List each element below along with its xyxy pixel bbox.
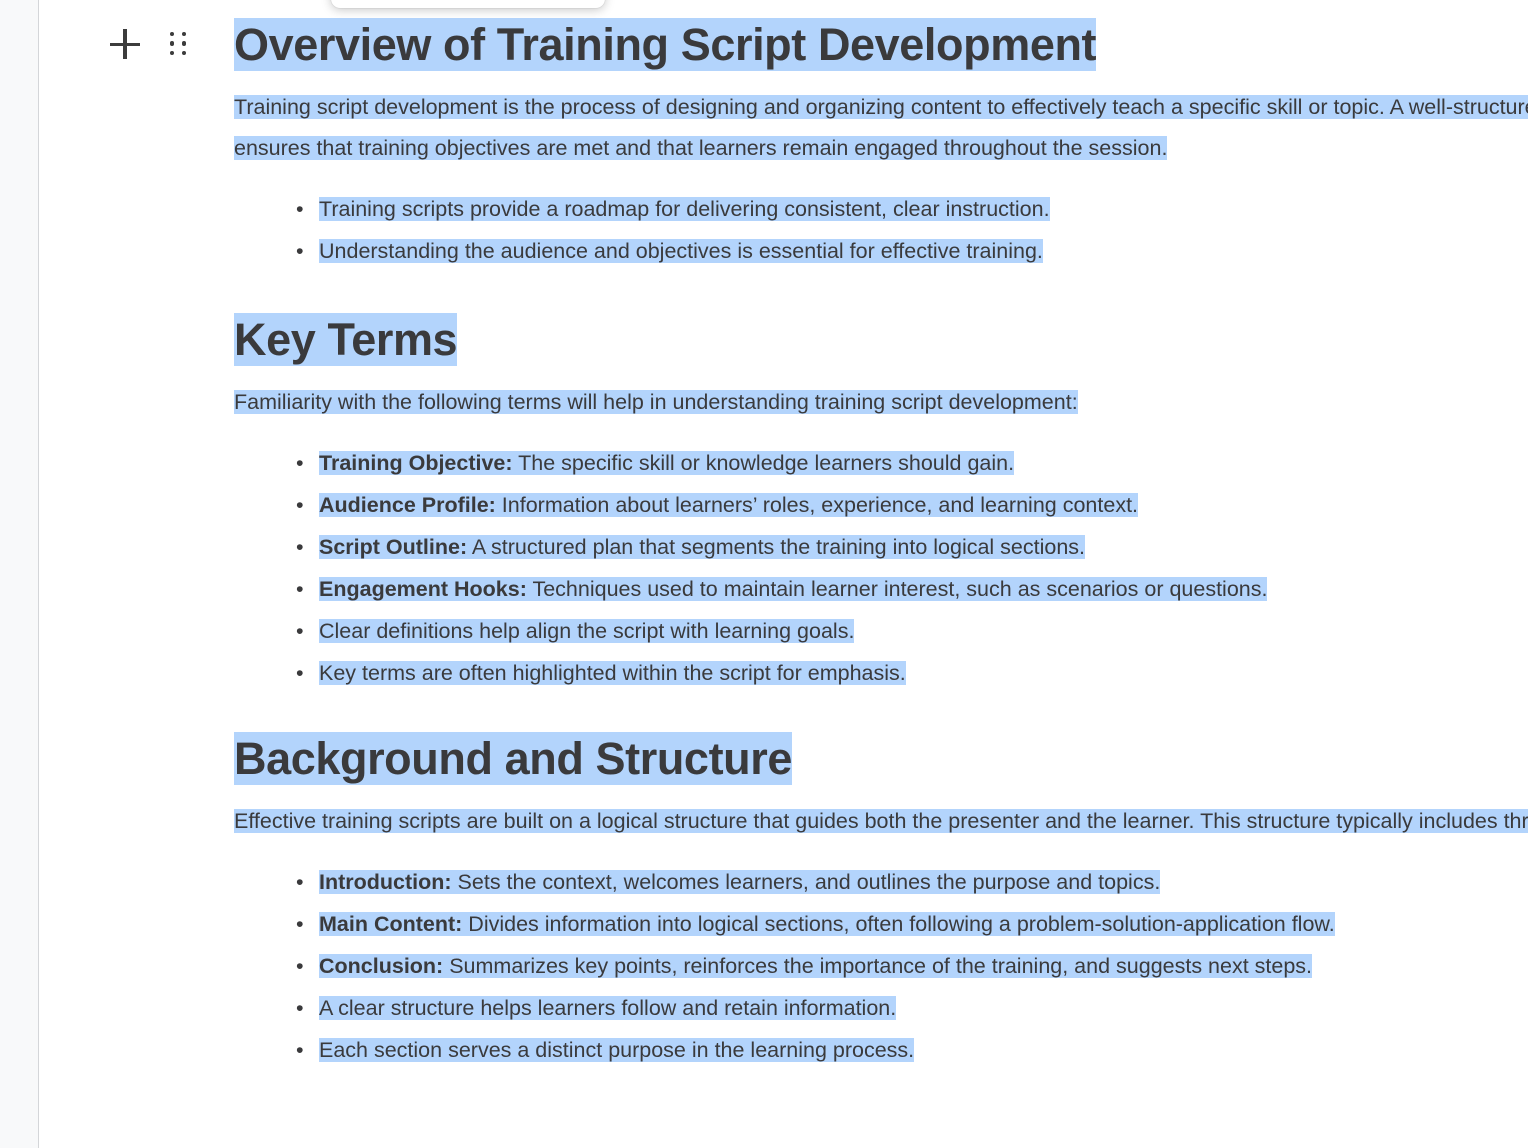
list-item[interactable]: Engagement Hooks: Techniques used to mai… [319, 568, 1528, 610]
list-item[interactable]: Clear definitions help align the script … [319, 610, 1528, 652]
document-body[interactable]: Overview of Training Script Development … [234, 0, 1528, 1071]
list-item-term: Engagement Hooks: [319, 577, 527, 601]
list-item-term: Main Content: [319, 912, 462, 936]
section-heading[interactable]: Background and Structure [234, 728, 1528, 790]
list-item[interactable]: Each section serves a distinct purpose i… [319, 1029, 1528, 1071]
list-item-term: Conclusion: [319, 954, 443, 978]
section-heading-text: Overview of Training Script Development [234, 18, 1096, 71]
list-item-term: Audience Profile: [319, 493, 496, 517]
list-item[interactable]: Key terms are often highlighted within t… [319, 652, 1528, 694]
list-item-text: Summarizes key points, reinforces the im… [449, 954, 1312, 978]
section-heading[interactable]: Key Terms [234, 309, 1528, 371]
list-item[interactable]: Understanding the audience and objective… [319, 230, 1528, 272]
list-item[interactable]: Script Outline: A structured plan that s… [319, 526, 1528, 568]
list-item-text: Key terms are often highlighted within t… [319, 661, 906, 685]
list-item-term: Training Objective: [319, 451, 513, 475]
block-gutter-controls [110, 22, 220, 66]
plus-icon[interactable] [110, 29, 140, 59]
section-bullet-list[interactable]: Introduction: Sets the context, welcomes… [234, 861, 1528, 1071]
section-bullet-list[interactable]: Training scripts provide a roadmap for d… [234, 188, 1528, 272]
section-spacer [234, 694, 1528, 728]
list-item[interactable]: Conclusion: Summarizes key points, reinf… [319, 945, 1528, 987]
list-item[interactable]: Main Content: Divides information into l… [319, 903, 1528, 945]
drag-handle-dots-icon[interactable] [170, 32, 188, 56]
list-item[interactable]: Training scripts provide a roadmap for d… [319, 188, 1528, 230]
list-item-text: The specific skill or knowledge learners… [518, 451, 1014, 475]
list-item-text: Understanding the audience and objective… [319, 239, 1043, 263]
list-item-text: Sets the context, welcomes learners, and… [458, 870, 1161, 894]
list-item[interactable]: Training Objective: The specific skill o… [319, 442, 1528, 484]
editor-page: Overview of Training Script Development … [0, 0, 1528, 1148]
list-item-text: Divides information into logical section… [468, 912, 1334, 936]
section-heading-text: Background and Structure [234, 732, 792, 785]
list-item-text: Clear definitions help align the script … [319, 619, 854, 643]
formatting-toolbar[interactable] [331, 0, 605, 8]
list-item-text: Information about learners’ roles, exper… [502, 493, 1138, 517]
list-item[interactable]: Audience Profile: Information about lear… [319, 484, 1528, 526]
list-item-text: Training scripts provide a roadmap for d… [319, 197, 1050, 221]
list-item-text: A clear structure helps learners follow … [319, 996, 896, 1020]
section-paragraph[interactable]: Effective training scripts are built on … [234, 801, 1528, 842]
list-item-term: Script Outline: [319, 535, 467, 559]
list-item-text: Techniques used to maintain learner inte… [532, 577, 1267, 601]
list-item[interactable]: A clear structure helps learners follow … [319, 987, 1528, 1029]
section-paragraph-text: Training script development is the proce… [234, 95, 1528, 160]
list-item-text: A structured plan that segments the trai… [472, 535, 1085, 559]
section-paragraph-text: Effective training scripts are built on … [234, 809, 1528, 833]
section-paragraph-text: Familiarity with the following terms wil… [234, 390, 1078, 414]
section-spacer [234, 272, 1528, 309]
section-paragraph[interactable]: Familiarity with the following terms wil… [234, 382, 1528, 423]
section-bullet-list[interactable]: Training Objective: The specific skill o… [234, 442, 1528, 694]
left-sidebar-rail [0, 0, 39, 1148]
section-heading[interactable]: Overview of Training Script Development [234, 14, 1528, 76]
section-heading-text: Key Terms [234, 313, 457, 366]
section-paragraph[interactable]: Training script development is the proce… [234, 87, 1528, 169]
list-item-term: Introduction: [319, 870, 452, 894]
list-item-text: Each section serves a distinct purpose i… [319, 1038, 914, 1062]
list-item[interactable]: Introduction: Sets the context, welcomes… [319, 861, 1528, 903]
